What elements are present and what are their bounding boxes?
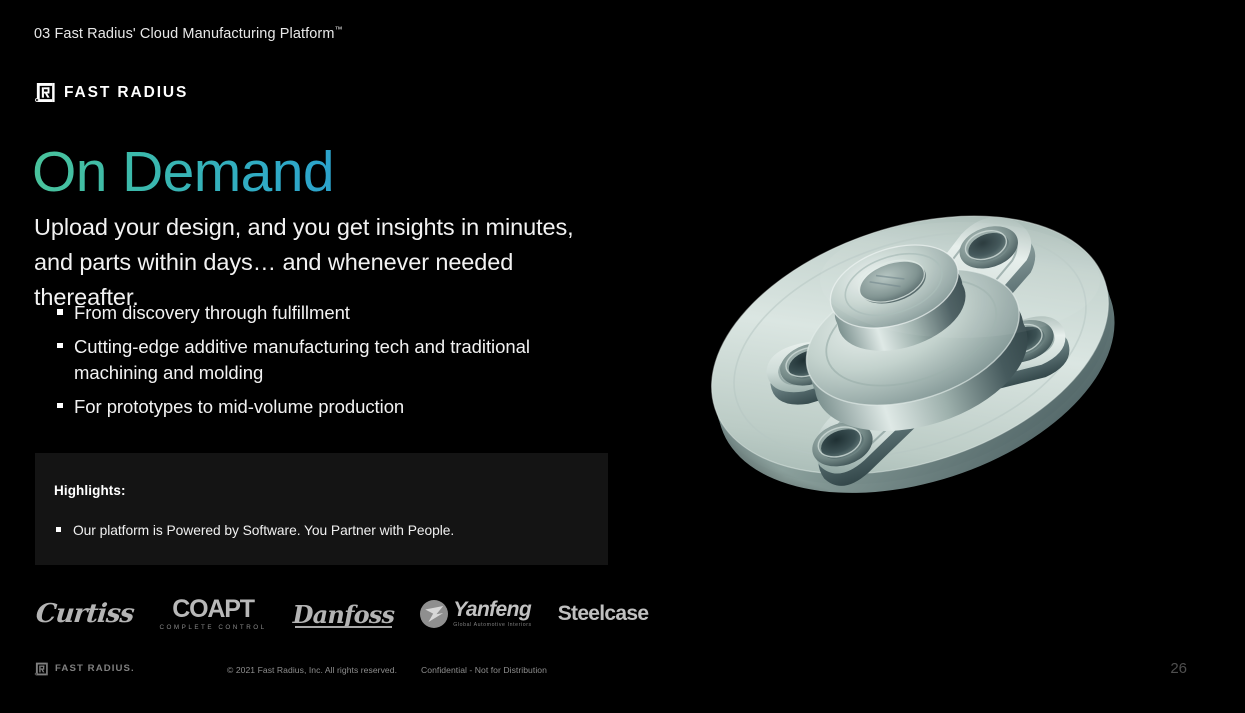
list-item-label: From discovery through fulfillment (74, 302, 350, 323)
list-item-label: Cutting-edge additive manufacturing tech… (74, 336, 530, 384)
list-item: Our platform is Powered by Software. You… (54, 521, 594, 540)
client-logo-steelcase: Steelcase (558, 592, 649, 636)
page-number: 26 (1170, 660, 1187, 677)
list-item: From discovery through fulfillment (55, 300, 600, 327)
highlights-panel: Highlights: Our platform is Powered by S… (35, 453, 608, 565)
feature-bullet-list: From discovery through fulfillment Cutti… (55, 300, 600, 427)
client-logo-strip: Curtiss COAPT COMPLETE CONTROL Danfoss Y… (36, 592, 648, 636)
render-vignette (660, 160, 1160, 540)
footer-copyright: © 2021 Fast Radius, Inc. All rights rese… (227, 665, 397, 675)
danfoss-wordmark: Danfoss (293, 600, 395, 629)
yanfeng-globe-swoosh-icon (420, 600, 448, 628)
slide-root: 03 Fast Radius' Cloud Manufacturing Plat… (0, 0, 1245, 713)
highlights-title: Highlights: (54, 483, 126, 498)
square-bullet-icon (57, 343, 63, 349)
footer-wordmark: FAST RADIUS. (55, 664, 135, 674)
square-bullet-icon (57, 403, 63, 409)
yanfeng-text-block: Yanfeng Global Automotive Interiors (453, 599, 531, 628)
yanfeng-wordmark: Yanfeng (453, 599, 531, 620)
list-item: Cutting-edge additive manufacturing tech… (55, 334, 600, 387)
coapt-tagline: COMPLETE CONTROL (159, 625, 266, 631)
client-logo-coapt: COAPT COMPLETE CONTROL (159, 592, 266, 636)
footer-brand-lockup: FAST RADIUS. (34, 662, 135, 676)
coapt-wordmark: COAPT (172, 597, 254, 622)
section-eyebrow-text: 03 Fast Radius' Cloud Manufacturing Plat… (34, 26, 335, 42)
curtiss-wordmark: Curtiss (34, 599, 135, 629)
square-bullet-icon (57, 309, 63, 315)
yanfeng-lockup: Yanfeng Global Automotive Interiors (420, 599, 531, 628)
list-item-label: For prototypes to mid-volume production (74, 396, 404, 417)
brand-lockup: FAST RADIUS (34, 82, 188, 103)
list-item-label: Our platform is Powered by Software. You… (73, 523, 454, 538)
brand-wordmark: FAST RADIUS (64, 85, 188, 101)
steelcase-wordmark: Steelcase (558, 602, 649, 626)
fast-radius-bracket-mark-icon (34, 662, 48, 676)
client-logo-yanfeng: Yanfeng Global Automotive Interiors (420, 592, 531, 636)
list-item: For prototypes to mid-volume production (55, 394, 600, 421)
client-logo-curtiss: Curtiss (36, 592, 133, 636)
footer-confidential-notice: Confidential - Not for Distribution (421, 665, 547, 675)
client-logo-danfoss: Danfoss (293, 592, 395, 636)
section-eyebrow: 03 Fast Radius' Cloud Manufacturing Plat… (34, 25, 343, 42)
trademark-symbol: ™ (335, 25, 343, 34)
fast-radius-bracket-mark-icon (34, 82, 55, 103)
yanfeng-tagline: Global Automotive Interiors (453, 623, 531, 628)
square-bullet-icon (56, 527, 61, 532)
page-title: On Demand (32, 142, 334, 204)
lead-paragraph: Upload your design, and you get insights… (34, 210, 579, 315)
highlights-list: Our platform is Powered by Software. You… (54, 521, 594, 540)
product-render-image (660, 160, 1160, 540)
